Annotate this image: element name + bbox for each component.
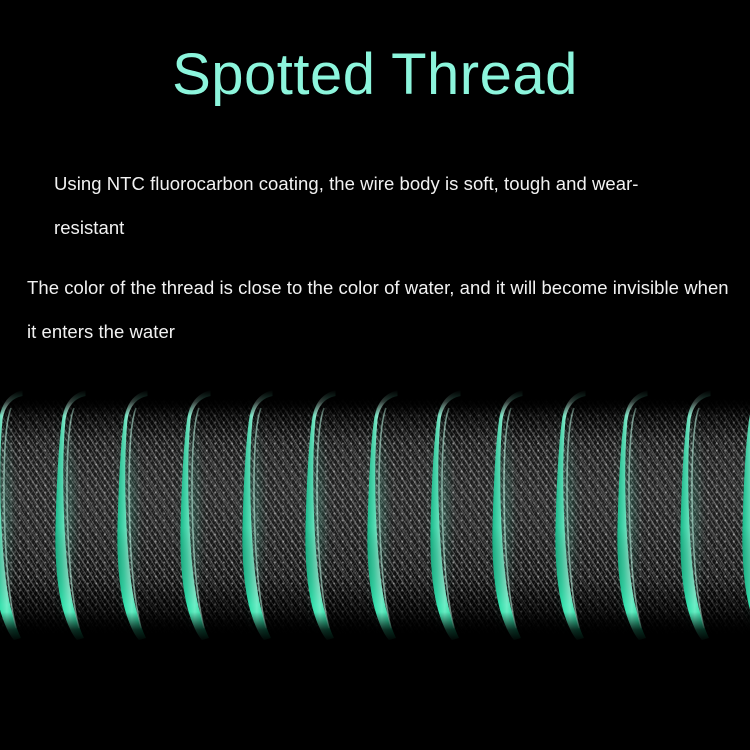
thread-coil bbox=[305, 390, 339, 642]
description-paragraph-2: The color of the thread is close to the … bbox=[27, 266, 739, 354]
thread-coil bbox=[742, 390, 750, 642]
thread-coil bbox=[180, 390, 214, 642]
thread-coil bbox=[0, 390, 26, 642]
product-banner: Spotted Thread Using NTC fluorocarbon co… bbox=[0, 0, 750, 750]
page-title: Spotted Thread bbox=[0, 44, 750, 106]
thread-coil bbox=[242, 390, 276, 642]
thread-coil bbox=[430, 390, 464, 642]
thread-coil bbox=[555, 390, 589, 642]
thread-coil bbox=[367, 390, 401, 642]
product-photo bbox=[0, 390, 750, 642]
thread-coil bbox=[55, 390, 89, 642]
thread-coil bbox=[680, 390, 714, 642]
thread-coil bbox=[117, 390, 151, 642]
description-paragraph-1: Using NTC fluorocarbon coating, the wire… bbox=[54, 162, 704, 250]
thread-coil bbox=[492, 390, 526, 642]
thread-coil bbox=[617, 390, 651, 642]
